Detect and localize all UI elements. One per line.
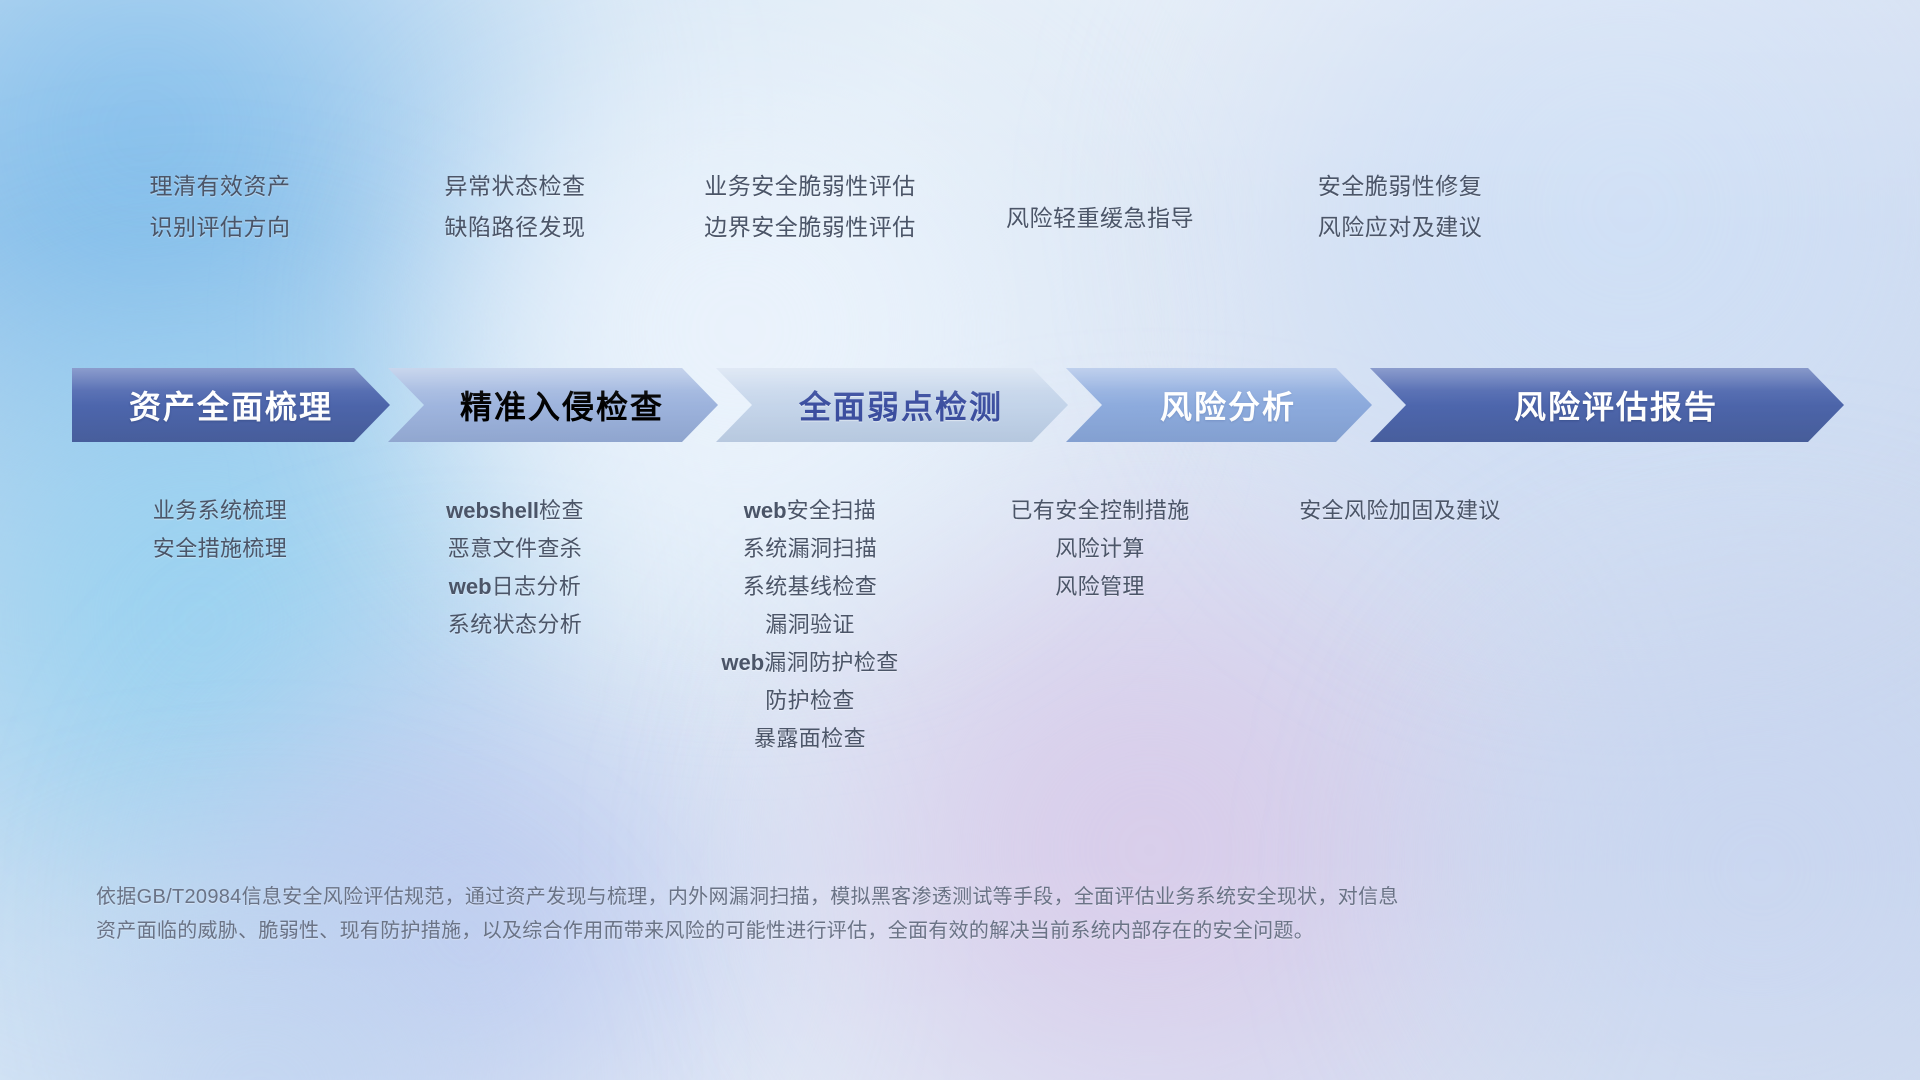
footer-line-2: 资产面临的威胁、脆弱性、现有防护措施，以及综合作用而带来风险的可能性进行评估，全…	[96, 914, 1596, 948]
top-caption: 风险轻重缓急指导	[960, 207, 1240, 230]
top-caption: 识别评估方向	[70, 216, 370, 239]
top-captions-stage-1: 理清有效资产 识别评估方向	[70, 175, 370, 239]
list-item: 系统漏洞扫描	[660, 538, 960, 560]
list-item: 恶意文件查杀	[370, 538, 660, 560]
list-item: 防护检查	[660, 690, 960, 712]
top-caption: 理清有效资产	[70, 175, 370, 198]
list-item: 风险管理	[960, 576, 1240, 598]
top-caption: 异常状态检查	[370, 175, 660, 198]
list-item: 安全风险加固及建议	[1240, 500, 1560, 522]
stage-label: 精准入侵检查	[388, 382, 718, 428]
bottom-list-stage-5: 安全风险加固及建议	[1240, 500, 1560, 750]
list-item: 已有安全控制措施	[960, 500, 1240, 522]
stage-label: 风险评估报告	[1370, 382, 1844, 428]
process-infographic: 理清有效资产 识别评估方向 异常状态检查 缺陷路径发现 业务安全脆弱性评估 边界…	[0, 0, 1920, 1080]
stage-chevron-2[interactable]: 精准入侵检查	[388, 368, 718, 442]
list-item: web安全扫描	[660, 500, 960, 522]
stage-label: 全面弱点检测	[716, 382, 1068, 428]
stage-top-captions: 理清有效资产 识别评估方向 异常状态检查 缺陷路径发现 业务安全脆弱性评估 边界…	[0, 175, 1920, 295]
list-item: webshell检查	[370, 500, 660, 522]
list-item: 业务系统梳理	[70, 500, 370, 522]
list-item: web漏洞防护检查	[660, 652, 960, 674]
process-chevron-band: 资产全面梳理 精准入侵检查 全面弱点检测 风险分析 风险评估报告	[72, 368, 1844, 442]
list-item: 系统状态分析	[370, 614, 660, 636]
top-captions-stage-2: 异常状态检查 缺陷路径发现	[370, 175, 660, 239]
stage-chevron-4[interactable]: 风险分析	[1066, 368, 1372, 442]
top-captions-stage-4: 风险轻重缓急指导	[960, 175, 1240, 239]
stage-chevron-5[interactable]: 风险评估报告	[1370, 368, 1844, 442]
stage-chevron-1[interactable]: 资产全面梳理	[72, 368, 390, 442]
top-caption: 安全脆弱性修复	[1240, 175, 1560, 198]
bottom-list-stage-1: 业务系统梳理 安全措施梳理	[70, 500, 370, 750]
list-item: web日志分析	[370, 576, 660, 598]
footer-description: 依据GB/T20984信息安全风险评估规范，通过资产发现与梳理，内外网漏洞扫描，…	[96, 880, 1596, 948]
stage-label: 资产全面梳理	[72, 382, 390, 428]
top-captions-stage-5: 安全脆弱性修复 风险应对及建议	[1240, 175, 1560, 239]
bottom-list-stage-4: 已有安全控制措施 风险计算 风险管理	[960, 500, 1240, 750]
footer-line-1: 依据GB/T20984信息安全风险评估规范，通过资产发现与梳理，内外网漏洞扫描，…	[96, 880, 1596, 914]
top-caption: 风险应对及建议	[1240, 216, 1560, 239]
stage-label: 风险分析	[1066, 382, 1372, 428]
bottom-list-stage-3: web安全扫描 系统漏洞扫描 系统基线检查 漏洞验证 web漏洞防护检查 防护检…	[660, 500, 960, 750]
list-item: 系统基线检查	[660, 576, 960, 598]
top-caption: 缺陷路径发现	[370, 216, 660, 239]
top-caption: 边界安全脆弱性评估	[660, 216, 960, 239]
list-item: 漏洞验证	[660, 614, 960, 636]
top-captions-stage-3: 业务安全脆弱性评估 边界安全脆弱性评估	[660, 175, 960, 239]
bottom-list-stage-2: webshell检查 恶意文件查杀 web日志分析 系统状态分析	[370, 500, 660, 750]
stage-bottom-lists: 业务系统梳理 安全措施梳理 webshell检查 恶意文件查杀 web日志分析 …	[0, 500, 1920, 830]
list-item: 安全措施梳理	[70, 538, 370, 560]
list-item: 暴露面检查	[660, 728, 960, 750]
stage-chevron-3[interactable]: 全面弱点检测	[716, 368, 1068, 442]
list-item: 风险计算	[960, 538, 1240, 560]
top-caption: 业务安全脆弱性评估	[660, 175, 960, 198]
